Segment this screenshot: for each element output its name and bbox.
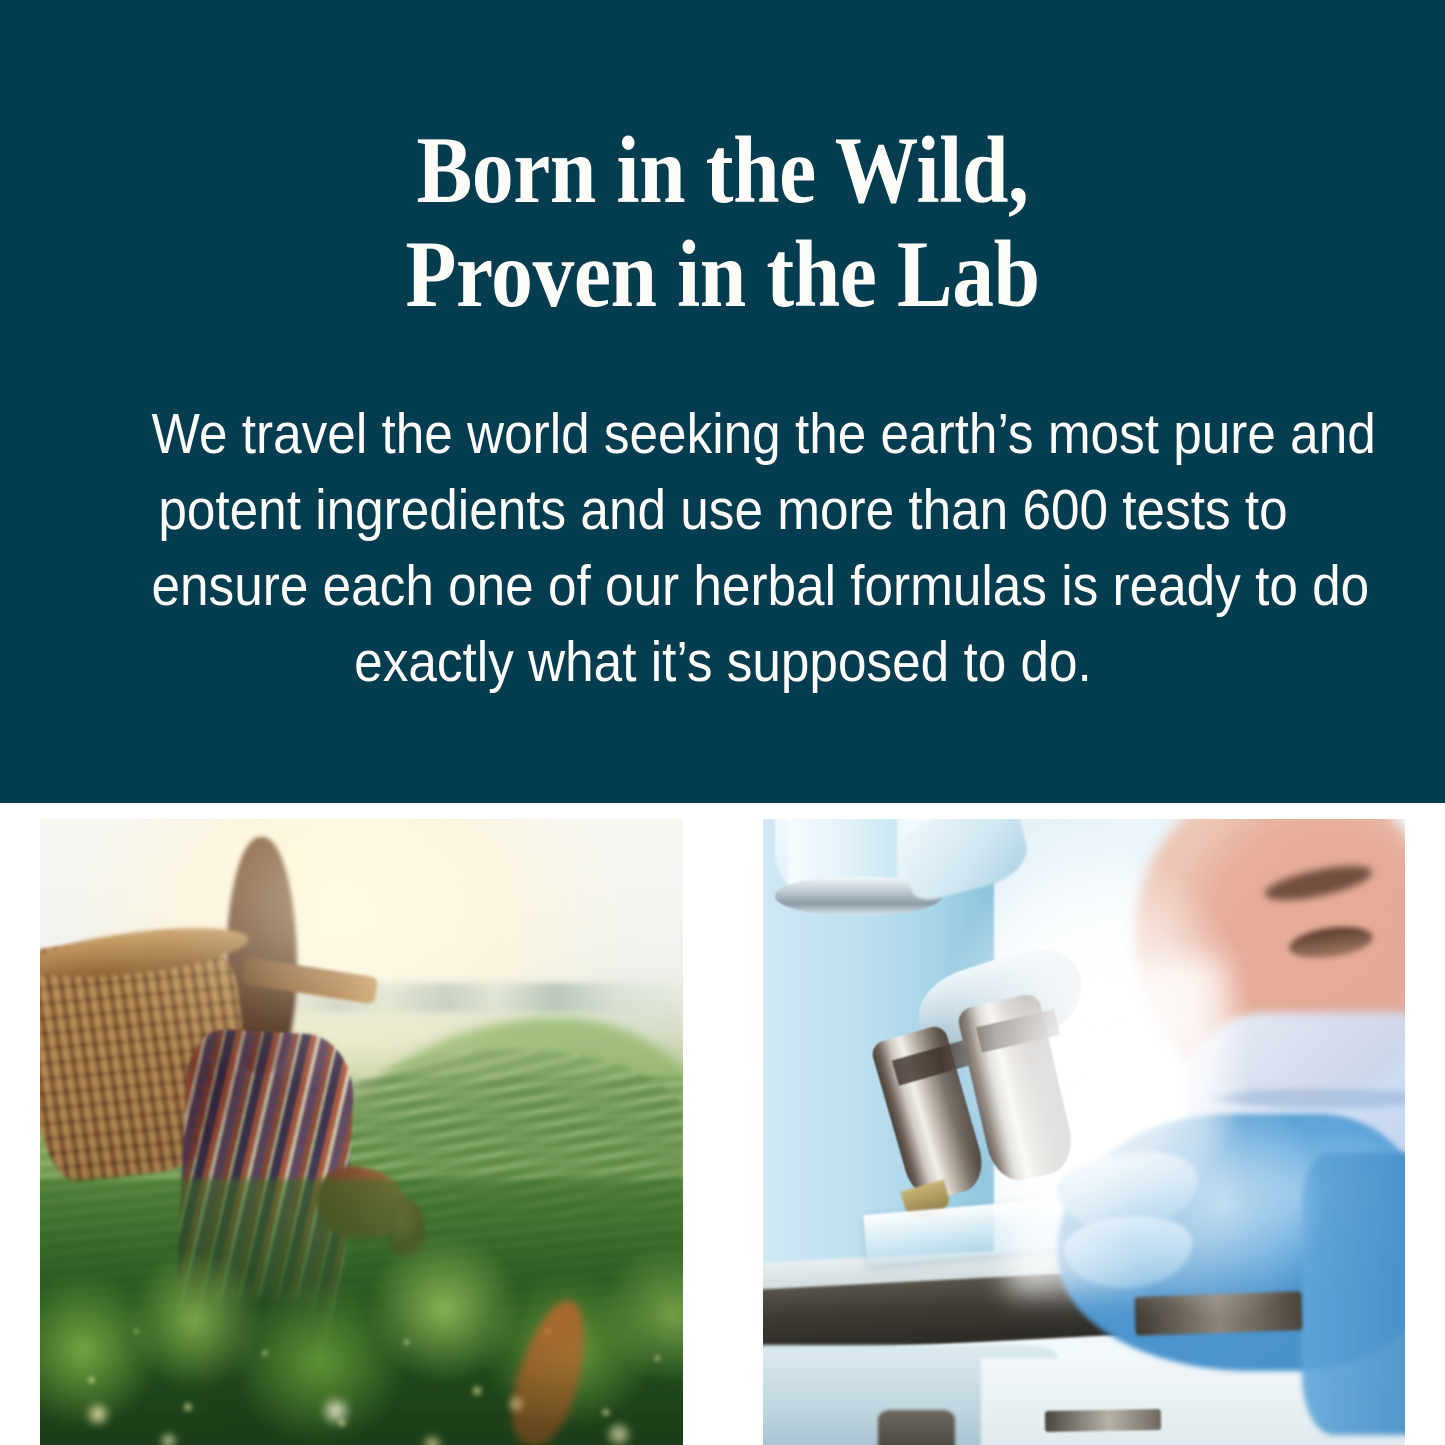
bench-instrument	[1045, 1409, 1161, 1432]
brand-story-banner: Born in the Wild, Proven in the Lab We t…	[0, 0, 1445, 1445]
tea-harvest-photo	[40, 819, 683, 1445]
slide-holder	[1135, 1291, 1303, 1335]
body-copy-line-3: ensure each one of our herbal formulas i…	[151, 548, 1294, 624]
foreground-bokeh	[40, 1294, 683, 1445]
mask-fold-upper	[1212, 1089, 1405, 1108]
page-title: Born in the Wild, Proven in the Lab	[87, 118, 1359, 326]
headline-line-1: Born in the Wild,	[87, 118, 1359, 222]
photo-strip	[0, 803, 1445, 1445]
body-copy: We travel the world seeking the earth’s …	[151, 396, 1294, 700]
glove-cuff	[1302, 1153, 1405, 1435]
headline-panel: Born in the Wild, Proven in the Lab We t…	[0, 0, 1445, 803]
body-copy-line-2: potent ingredients and use more than 600…	[151, 472, 1294, 548]
focus-knob	[878, 1410, 955, 1445]
laboratory-microscope-photo	[763, 819, 1406, 1445]
body-copy-line-4: exactly what it’s supposed to do.	[151, 624, 1294, 700]
body-copy-line-1: We travel the world seeking the earth’s …	[151, 396, 1294, 472]
microscope-arm	[896, 819, 1033, 903]
headline-line-2: Proven in the Lab	[87, 222, 1359, 326]
